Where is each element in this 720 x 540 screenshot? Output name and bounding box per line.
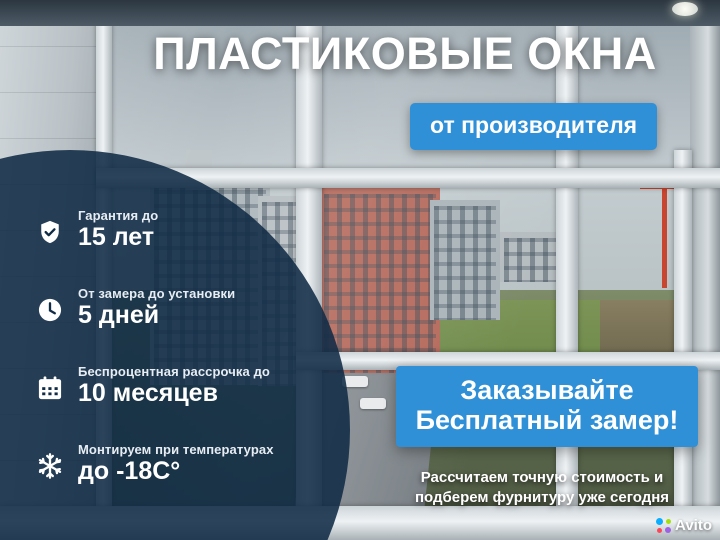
manufacturer-badge: от производителя (410, 103, 657, 150)
calendar-icon (36, 374, 64, 402)
cta-line-1: Заказывайте (402, 376, 692, 406)
feature-item-installation-time: От замера до установки 5 дней (36, 286, 306, 344)
feature-value: до -18C° (78, 458, 306, 484)
feature-label: Монтируем при температурах (78, 442, 306, 457)
shield-check-icon (36, 218, 64, 246)
page-title: ПЛАСТИКОВЫЕ ОКНА (0, 28, 720, 80)
cta-note: Рассчитаем точную стоимость и подберем ф… (392, 468, 692, 509)
clock-icon (36, 296, 64, 324)
feature-label: Гарантия до (78, 208, 306, 223)
feature-label: Беспроцентная рассрочка до (78, 364, 306, 379)
feature-label: От замера до установки (78, 286, 306, 301)
feature-value: 10 месяцев (78, 380, 306, 406)
feature-item-temperature: Монтируем при температурах до -18C° (36, 442, 306, 500)
snowflake-icon (36, 452, 64, 480)
feature-list: Гарантия до 15 лет От замера до установк… (36, 208, 306, 520)
feature-value: 15 лет (78, 224, 306, 250)
avito-logo-icon (656, 518, 671, 533)
feature-value: 5 дней (78, 302, 306, 328)
cta-line-2: Бесплатный замер! (402, 406, 692, 436)
feature-item-warranty: Гарантия до 15 лет (36, 208, 306, 266)
cta-banner[interactable]: Заказывайте Бесплатный замер! (396, 366, 698, 447)
feature-item-installment: Беспроцентная рассрочка до 10 месяцев (36, 364, 306, 422)
advertisement-poster: ПЛАСТИКОВЫЕ ОКНА от производителя Гарант… (0, 0, 720, 540)
avito-watermark: Avito (656, 517, 712, 534)
avito-watermark-label: Avito (675, 517, 712, 534)
